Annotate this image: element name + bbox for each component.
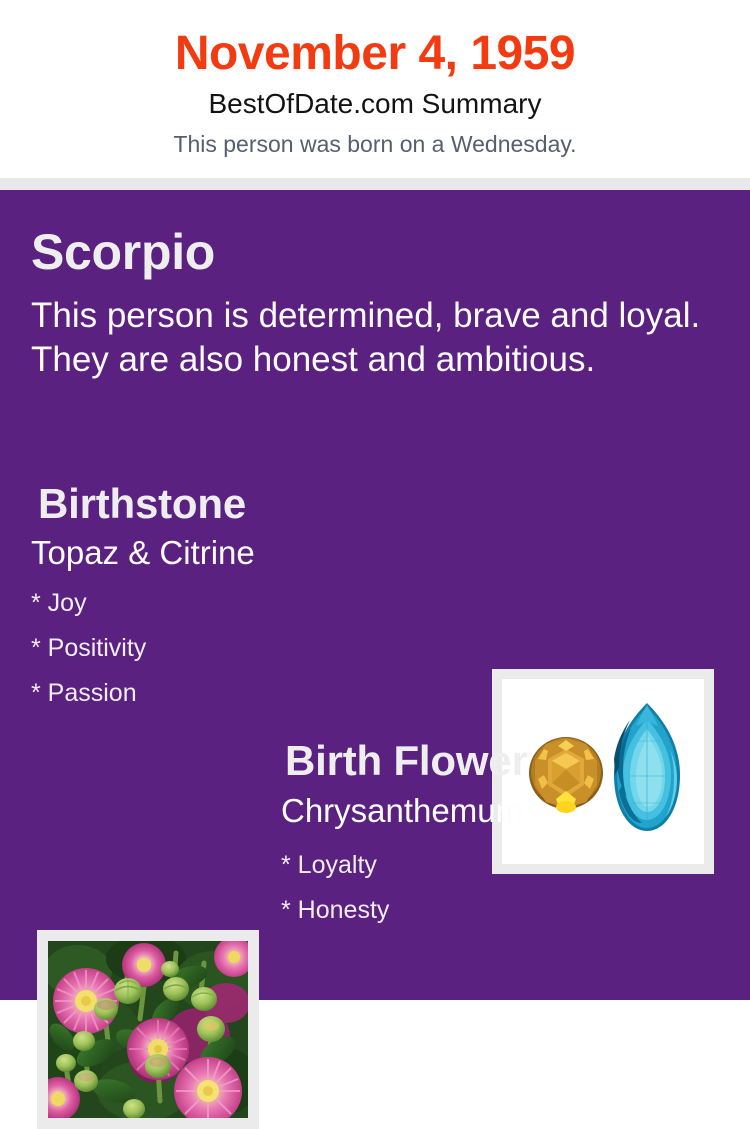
birth-flower-heading: Birth Flower — [285, 735, 528, 787]
born-day-text: This person was born on a Wednesday. — [0, 130, 750, 158]
list-item: * Honesty — [281, 888, 701, 933]
birthstone-heading: Birthstone — [38, 479, 246, 529]
zodiac-sign-heading: Scorpio — [31, 223, 215, 281]
header-divider — [0, 178, 750, 190]
details-panel: Scorpio This person is determined, brave… — [0, 190, 750, 1000]
summary-card: November 4, 1959 BestOfDate.com Summary … — [0, 0, 750, 1000]
birth-flower-name: Chrysanthemum — [281, 791, 523, 831]
site-subtitle: BestOfDate.com Summary — [0, 87, 750, 121]
birthstone-trait-list: * Joy * Positivity * Passion — [31, 581, 451, 716]
birthstone-name: Topaz & Citrine — [31, 533, 255, 573]
birth-flower-image — [48, 941, 248, 1118]
card-header: November 4, 1959 BestOfDate.com Summary … — [0, 0, 750, 178]
list-item: * Passion — [31, 671, 451, 716]
birthstone-image — [502, 679, 704, 864]
birth-flower-image-frame — [37, 930, 259, 1129]
chrysanthemum-illustration — [48, 941, 248, 1118]
list-item: * Loyalty — [281, 843, 701, 888]
zodiac-description: This person is determined, brave and loy… — [31, 294, 701, 382]
gemstones-illustration — [502, 679, 704, 864]
list-item: * Joy — [31, 581, 451, 626]
list-item: * Positivity — [31, 626, 451, 671]
page-title: November 4, 1959 — [0, 25, 750, 83]
birth-flower-trait-list: * Loyalty * Honesty — [281, 843, 701, 933]
